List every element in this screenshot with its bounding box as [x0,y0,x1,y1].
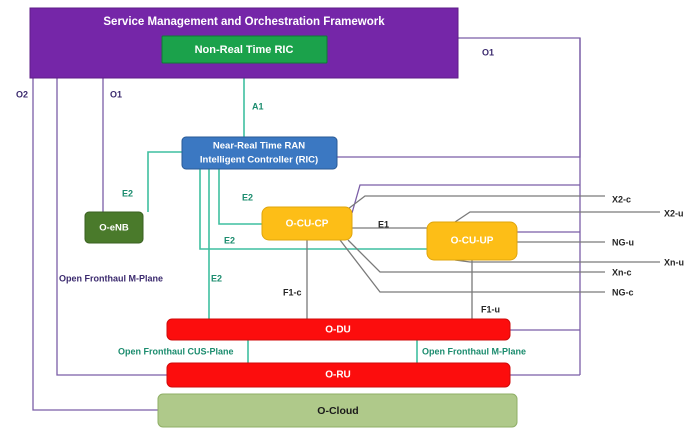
label-e1: E1 [378,219,389,229]
node-non-rt-ric[interactable]: Non-Real Time RIC [162,36,327,63]
node-o-cu-cp[interactable]: O-CU-CP [262,207,352,240]
non-rt-ric-label: Non-Real Time RIC [195,44,294,56]
oran-architecture-diagram: Service Management and Orchestration Fra… [0,0,690,444]
label-o1-left: O1 [110,89,122,99]
label-fronthaul-m-plane-left: Open Fronthaul M-Plane [59,273,163,283]
label-f1-u: F1-u [481,304,500,314]
label-x2-c: X2-c [612,194,631,204]
label-e2-mid: E2 [224,235,235,245]
label-e2-odu: E2 [211,273,222,283]
line-o2-to-ocloud [33,78,158,410]
label-e2-ocucp: E2 [242,192,253,202]
label-ng-c: NG-c [612,287,634,297]
label-o2: O2 [16,89,28,99]
o-enb-label: O-eNB [99,223,129,234]
label-xn-u: Xn-u [664,257,684,267]
node-o-cloud[interactable]: O-Cloud [158,394,517,427]
near-rt-ric-label-line1: Near-Real Time RAN [213,141,305,152]
label-f1-c: F1-c [283,287,302,297]
plane-labels: Open Fronthaul M-Plane Open Fronthaul CU… [59,273,526,356]
label-xn-c: Xn-c [612,267,632,277]
line-o1-right-to-ocucp [352,185,580,213]
node-o-ru[interactable]: O-RU [167,363,510,387]
o-cu-cp-label: O-CU-CP [286,219,329,230]
node-o-enb[interactable]: O-eNB [85,212,143,243]
diagram-canvas: Service Management and Orchestration Fra… [0,0,690,444]
label-e2-oenb: E2 [122,188,133,198]
o-cu-up-label: O-CU-UP [451,236,494,247]
o-du-label: O-DU [325,325,351,336]
line-e2-to-ocucp [219,169,262,224]
label-ng-u: NG-u [612,237,634,247]
label-x2-u: X2-u [664,208,684,218]
node-o-cu-up[interactable]: O-CU-UP [427,222,517,260]
smo-label: Service Management and Orchestration Fra… [103,16,385,28]
o-cloud-label: O-Cloud [317,405,358,417]
node-o-du[interactable]: O-DU [167,319,510,340]
label-o1-right: O1 [482,47,494,57]
line-e2-to-oenb [148,152,182,212]
label-fronthaul-m-plane-right: Open Fronthaul M-Plane [422,346,526,356]
label-fronthaul-cus-plane: Open Fronthaul CUS-Plane [118,346,234,356]
line-x2-c [348,196,605,209]
label-a1: A1 [252,101,264,111]
near-rt-ric-label-line2: Intelligent Controller (RIC) [200,155,318,166]
node-near-rt-ric[interactable]: Near-Real Time RAN Intelligent Controlle… [182,137,337,169]
line-x2-u [455,212,660,222]
o-ru-label: O-RU [325,370,351,381]
